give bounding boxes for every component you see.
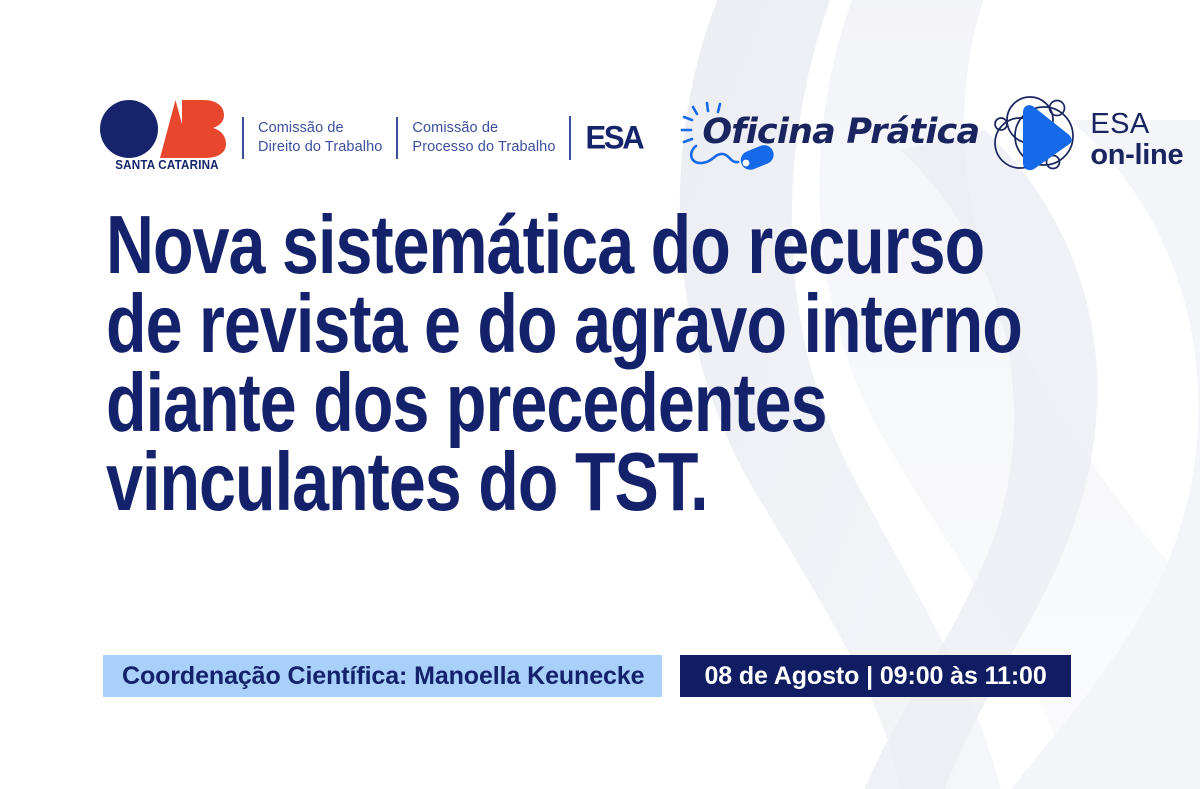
esa-online-line-2: on-line	[1090, 139, 1183, 171]
datetime-badge: 08 de Agosto | 09:00 às 11:00	[680, 655, 1070, 697]
logo-strip: SANTA CATARINA Comissão de Direito do Tr…	[100, 96, 1196, 180]
page-title: Nova sistemática do recurso de revista e…	[106, 206, 962, 521]
oab-logo: SANTA CATARINA	[100, 100, 228, 176]
oab-logo-icon	[100, 100, 228, 158]
oficina-pratica-text: Oficina Prática	[702, 112, 979, 152]
commission-2-line-2: Processo do Trabalho	[412, 138, 555, 157]
oficina-pratica-logo: Oficina Prática	[680, 98, 948, 178]
divider-3	[569, 116, 571, 160]
divider-2	[396, 117, 398, 159]
footer-bar: Coordenação Científica: Manoella Keuneck…	[103, 655, 1071, 697]
coordination-band: Coordenação Científica: Manoella Keuneck…	[103, 655, 662, 697]
commission-2-line-1: Comissão de	[412, 119, 555, 138]
esa-wordmark: ESA	[585, 119, 642, 156]
title-line-2: de revista e do agravo interno	[106, 285, 962, 364]
title-line-1: Nova sistemática do recurso	[106, 206, 962, 285]
title-line-4: vinculantes do TST.	[106, 443, 962, 522]
esa-online-text: ESA on-line	[1090, 110, 1183, 171]
esa-online-line-1: ESA	[1090, 110, 1183, 139]
event-poster: SANTA CATARINA Comissão de Direito do Tr…	[0, 0, 1200, 789]
esa-online-logo: ESA on-line	[978, 93, 1196, 183]
title-line-3: diante dos precedentes	[106, 364, 962, 443]
oab-subtitle: SANTA CATARINA	[110, 158, 223, 172]
commission-1-line-1: Comissão de	[258, 119, 382, 138]
commission-1-line-2: Direito do Trabalho	[258, 138, 382, 157]
commission-direito-do-trabalho: Comissão de Direito do Trabalho	[258, 119, 382, 158]
commission-processo-do-trabalho: Comissão de Processo do Trabalho	[412, 119, 555, 158]
divider-1	[242, 117, 244, 159]
